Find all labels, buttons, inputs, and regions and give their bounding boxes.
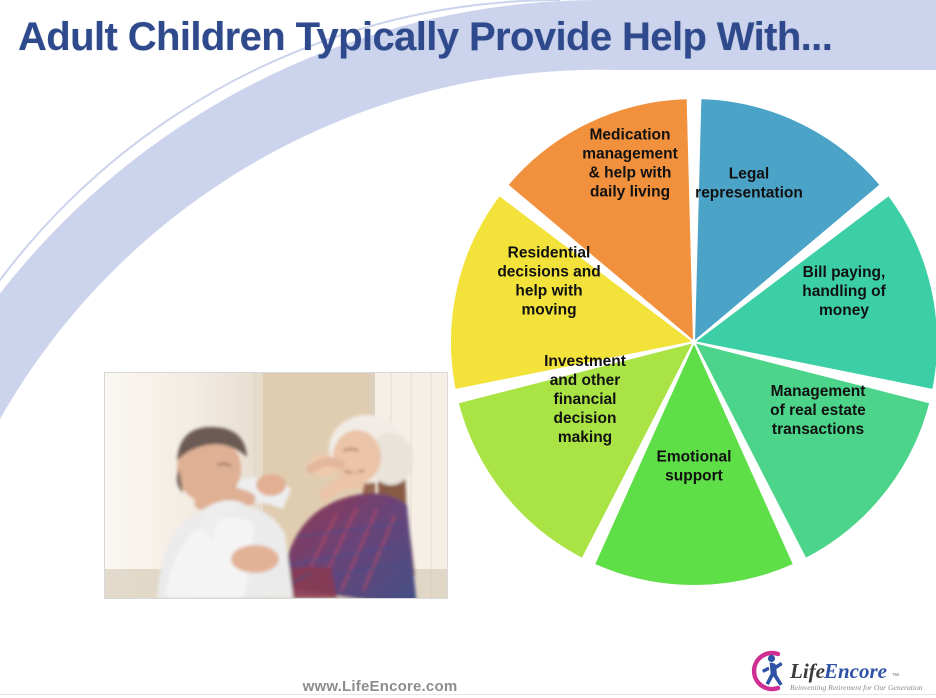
logo-trademark: ™	[892, 673, 899, 680]
logo-tagline: Reinventing Retirement for Our Generatio…	[789, 683, 923, 692]
pie-slice-group: Legal representationBill paying, handlin…	[450, 98, 936, 586]
logo-word-one: Life	[789, 659, 825, 683]
lifeencore-logo[interactable]: Life Encore ™ Reinventing Retirement for…	[748, 648, 928, 696]
pie-chart-svg: Legal representationBill paying, handlin…	[448, 96, 936, 598]
logo-svg: Life Encore ™ Reinventing Retirement for…	[748, 648, 928, 696]
footer-website-url: www.LifeEncore.com	[0, 678, 760, 695]
slide-bottom-edge	[0, 694, 936, 698]
page-title: Adult Children Typically Provide Help Wi…	[18, 14, 918, 60]
photo-illustration	[105, 373, 447, 598]
presentation-slide: Adult Children Typically Provide Help Wi…	[0, 0, 936, 698]
help-types-pie-chart: Legal representationBill paying, handlin…	[448, 96, 936, 598]
pie-slice-label: Managementof real estatetransactions	[770, 383, 866, 438]
caregiving-photo	[104, 372, 448, 599]
logo-figure-icon	[762, 655, 783, 686]
logo-word-two: Encore	[823, 659, 887, 683]
